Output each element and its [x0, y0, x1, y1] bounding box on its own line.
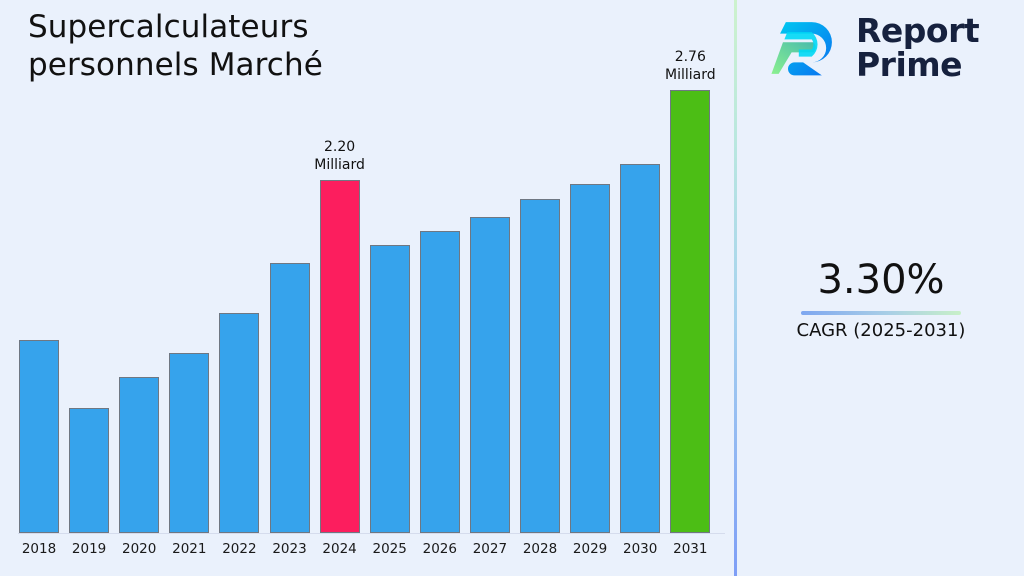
x-tick-2020: 2020	[119, 540, 159, 558]
bar-2026	[420, 43, 460, 533]
x-tick-2028: 2028	[520, 540, 560, 558]
bar-2024: 2.20 Milliard	[320, 43, 360, 533]
bar-2023	[270, 43, 310, 533]
bar-rect-2026	[420, 231, 460, 533]
bar-rect-2028	[520, 199, 560, 533]
x-tick-2018: 2018	[19, 540, 59, 558]
bar-value-label-2031: 2.76 Milliard	[665, 48, 716, 84]
bar-chart-plot: 2.20 Milliard2.76 Milliard 2018201920202…	[0, 0, 735, 576]
bar-rect-2022	[219, 313, 259, 533]
x-tick-2031: 2031	[670, 540, 710, 558]
bar-2029	[570, 43, 610, 533]
bar-2019	[69, 43, 109, 533]
x-tick-2027: 2027	[470, 540, 510, 558]
x-tick-2019: 2019	[69, 540, 109, 558]
x-tick-2025: 2025	[370, 540, 410, 558]
cagr-caption: CAGR (2025-2031)	[738, 319, 1024, 343]
brand-name: Report Prime	[856, 14, 979, 82]
x-tick-2022: 2022	[219, 540, 259, 558]
bar-rect-2018	[19, 340, 59, 533]
bar-2027	[470, 43, 510, 533]
x-tick-2029: 2029	[570, 540, 610, 558]
bar-2031: 2.76 Milliard	[670, 43, 710, 533]
x-tick-2021: 2021	[169, 540, 209, 558]
bar-rect-2025	[370, 245, 410, 533]
x-axis-line	[18, 533, 725, 534]
cagr-value: 3.30%	[738, 256, 1024, 304]
bar-rect-2019	[69, 408, 109, 533]
chart-screenshot: Supercalculateurs personnels Marché 2.20…	[0, 0, 1024, 576]
bar-rect-2031	[670, 90, 710, 533]
brand-panel: Report Prime 3.30% CAGR (2025-2031)	[738, 0, 1024, 576]
bar-2030	[620, 43, 660, 533]
bar-2020	[119, 43, 159, 533]
bar-2021	[169, 43, 209, 533]
bar-2028	[520, 43, 560, 533]
bar-rect-2023	[270, 263, 310, 533]
bar-rect-2027	[470, 217, 510, 533]
bar-2022	[219, 43, 259, 533]
brand-logo[interactable]: Report Prime	[770, 12, 979, 84]
bar-rect-2020	[119, 377, 159, 533]
report-prime-r-logo-icon	[770, 12, 842, 84]
cagr-divider	[801, 311, 961, 315]
chart-panel: Supercalculateurs personnels Marché 2.20…	[0, 0, 735, 576]
bar-value-label-2024: 2.20 Milliard	[314, 138, 365, 174]
bar-rect-2030	[620, 164, 660, 534]
cagr-summary: 3.30% CAGR (2025-2031)	[738, 256, 1024, 343]
panel-divider	[734, 0, 737, 576]
bar-2018	[19, 43, 59, 533]
x-tick-2024: 2024	[320, 540, 360, 558]
x-tick-2030: 2030	[620, 540, 660, 558]
x-tick-2023: 2023	[270, 540, 310, 558]
bar-rect-2021	[169, 353, 209, 533]
x-tick-2026: 2026	[420, 540, 460, 558]
bar-rect-2029	[570, 184, 610, 533]
bar-2025	[370, 43, 410, 533]
bar-rect-2024	[320, 180, 360, 533]
